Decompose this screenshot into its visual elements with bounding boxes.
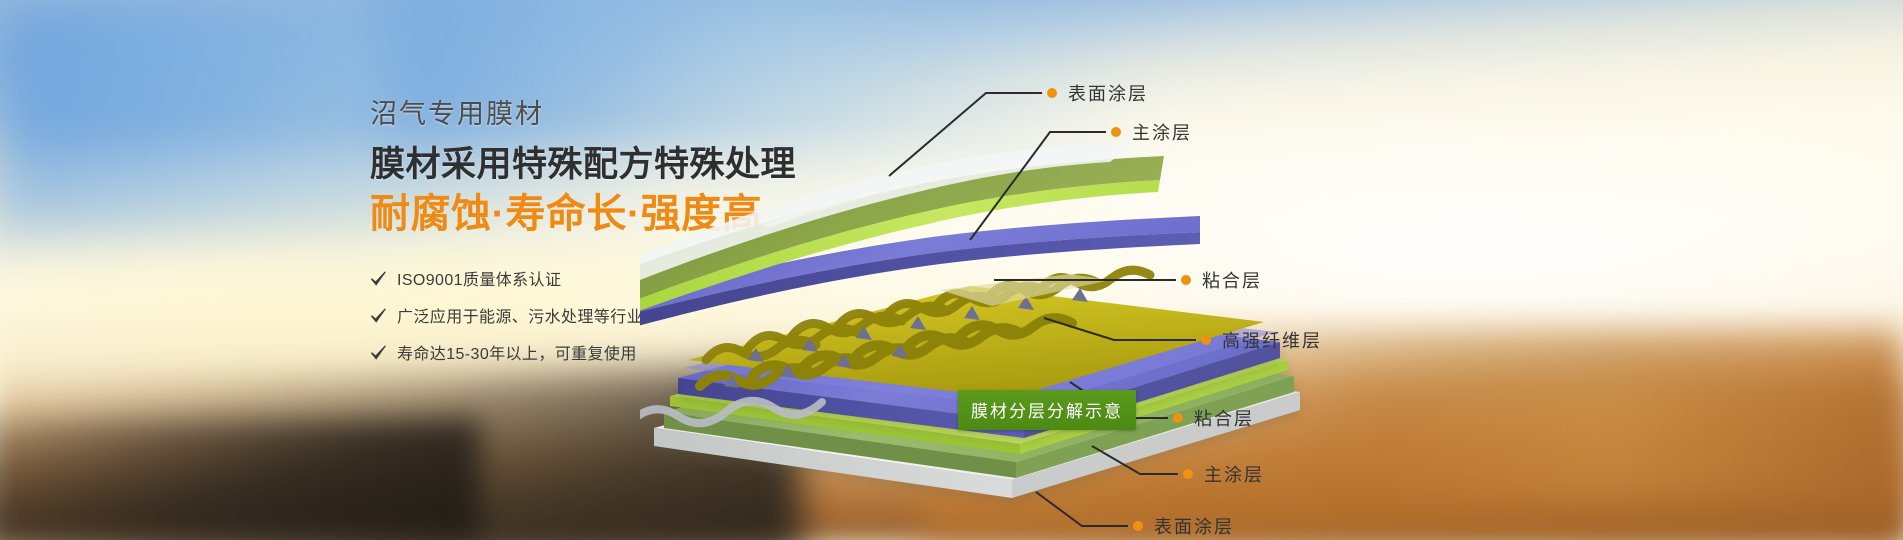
list-item-label: 寿命达15-30年以上，可重复使用 xyxy=(397,340,637,364)
check-icon xyxy=(370,344,387,361)
promo-banner: 沼气专用膜材 膜材采用特殊配方特殊处理 耐腐蚀·寿命长·强度高 ISO9001质… xyxy=(0,0,1903,540)
callout-2-label: 主涂层 xyxy=(1132,124,1192,142)
check-icon xyxy=(370,307,387,324)
callout-1-label: 表面涂层 xyxy=(1068,85,1148,103)
callout-3-label: 粘合层 xyxy=(1202,272,1262,290)
callout-6-label: 主涂层 xyxy=(1204,466,1264,484)
list-item-label: ISO9001质量体系认证 xyxy=(397,266,561,290)
check-icon xyxy=(370,270,387,287)
callout-7-label: 表面涂层 xyxy=(1154,518,1234,536)
membrane-layer-illustration: 表面涂层 主涂层 粘合层 高强纤维层 粘合层 主涂层 表面涂层 膜材分层分解示意 xyxy=(640,30,1903,540)
ground-dark-left-deep xyxy=(0,420,480,540)
status-badge: 膜材分层分解示意 xyxy=(958,390,1136,430)
callout-4-label: 高强纤维层 xyxy=(1222,332,1322,350)
callout-label-group: 表面涂层 主涂层 粘合层 高强纤维层 粘合层 主涂层 表面涂层 xyxy=(640,30,1903,540)
callout-5-label: 粘合层 xyxy=(1194,410,1254,428)
list-item-label: 广泛应用于能源、污水处理等行业 xyxy=(397,303,643,327)
